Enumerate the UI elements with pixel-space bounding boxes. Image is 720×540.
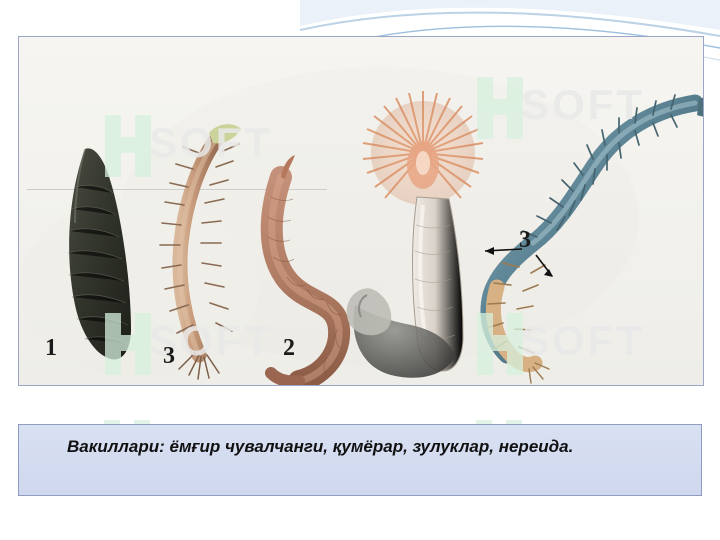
caption-text: Вакиллари: ёмғир чувалчанги, қумёрар, зу… bbox=[33, 435, 687, 459]
slide: SOFT SOFT SOFT SOFT 1 3 2 3 SOFT SOFT Ва… bbox=[0, 0, 720, 540]
figure-label-3-right: 3 bbox=[519, 227, 531, 254]
svg-text:SOFT: SOFT bbox=[521, 81, 645, 128]
figure-label-3-left: 3 bbox=[163, 343, 175, 370]
figure-image: SOFT SOFT SOFT SOFT 1 3 2 3 bbox=[18, 36, 704, 386]
figure-label-2: 2 bbox=[283, 335, 295, 362]
svg-text:SOFT: SOFT bbox=[149, 119, 273, 166]
svg-text:SOFT: SOFT bbox=[521, 317, 645, 364]
figure-label-1: 1 bbox=[45, 335, 57, 362]
caption-box: Вакиллари: ёмғир чувалчанги, қумёрар, зу… bbox=[18, 424, 702, 496]
watermark-layer-figure: SOFT SOFT SOFT SOFT bbox=[19, 37, 703, 385]
